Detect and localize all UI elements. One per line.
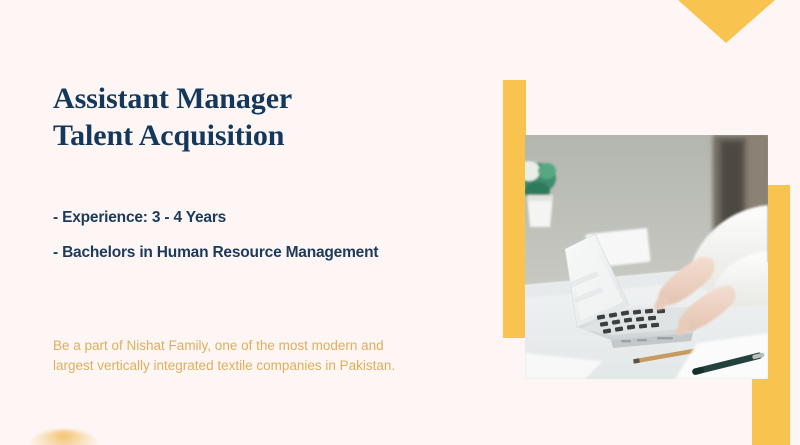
job-posting-poster: Assistant Manager Talent Acquisition - E… — [0, 0, 800, 445]
vertical-bar-accent-right-bottom — [752, 379, 790, 445]
requirement-item-education: - Bachelors in Human Resource Management — [53, 243, 483, 262]
requirements-list: - Experience: 3 - 4 Years - Bachelors in… — [53, 208, 483, 278]
workplace-photo — [525, 135, 768, 379]
requirement-item-experience: - Experience: 3 - 4 Years — [53, 208, 483, 227]
vertical-bar-accent-right — [768, 185, 790, 379]
text-column: Assistant Manager Talent Acquisition - E… — [53, 0, 473, 445]
job-title: Assistant Manager Talent Acquisition — [53, 80, 292, 154]
triangle-accent-icon — [678, 0, 775, 43]
vertical-bar-accent-left — [503, 80, 526, 338]
company-blurb: Be a part of Nishat Family, one of the m… — [53, 336, 463, 376]
